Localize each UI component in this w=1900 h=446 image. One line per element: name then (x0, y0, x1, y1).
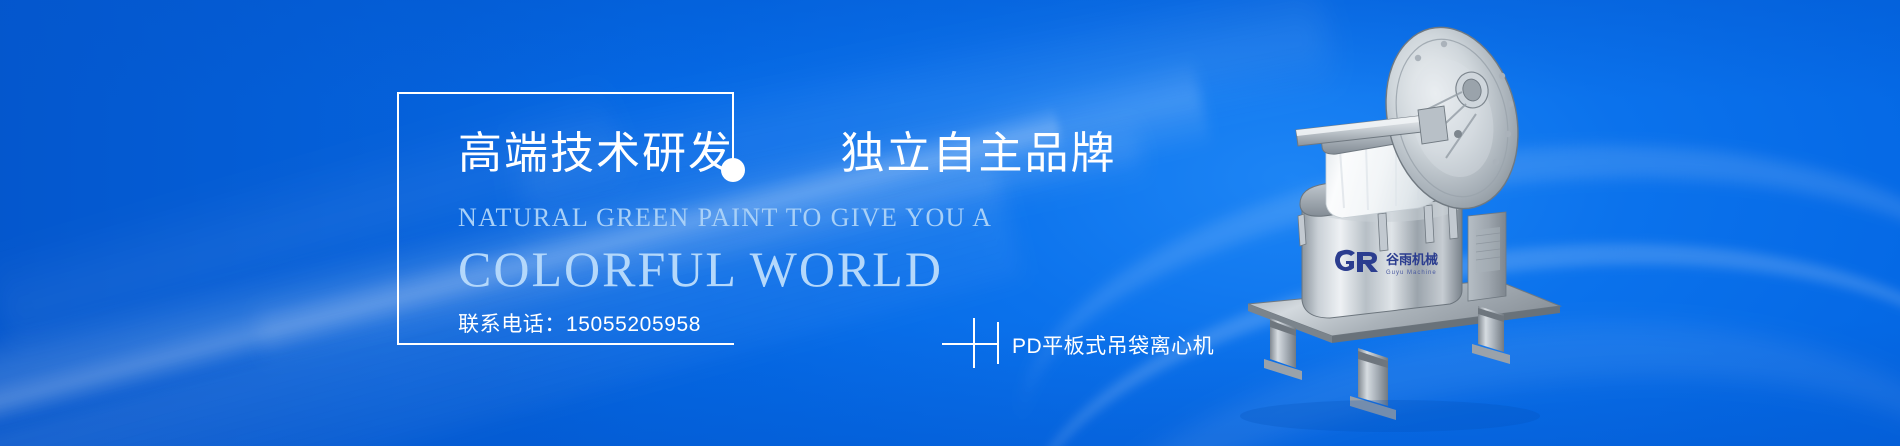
page-title: 高端技术研发 独立自主品牌 (458, 132, 1116, 176)
subtitle-english: NATURAL GREEN PAINT TO GIVE YOU A (458, 203, 992, 233)
caption-connector-line-icon (942, 343, 998, 345)
contact-phone[interactable]: 联系电话：15055205958 (458, 308, 701, 338)
headline-right: 独立自主品牌 (840, 129, 1116, 178)
tagline-english: COLORFUL WORLD (458, 242, 943, 297)
headline-left: 高端技术研发 (458, 129, 734, 178)
product-image-centrifuge: 谷雨机械 Guyu Machine (1240, 18, 1600, 446)
caption-divider-icon (997, 322, 999, 364)
caption-connector-tick-icon (973, 318, 975, 368)
promo-banner: 高端技术研发 独立自主品牌 NATURAL GREEN PAINT TO GIV… (0, 0, 1900, 446)
product-caption: PD平板式吊袋离心机 (1012, 330, 1214, 360)
machine-control-box (1468, 212, 1506, 301)
svg-text:Guyu Machine: Guyu Machine (1386, 270, 1437, 276)
svg-text:谷雨机械: 谷雨机械 (1386, 252, 1438, 267)
